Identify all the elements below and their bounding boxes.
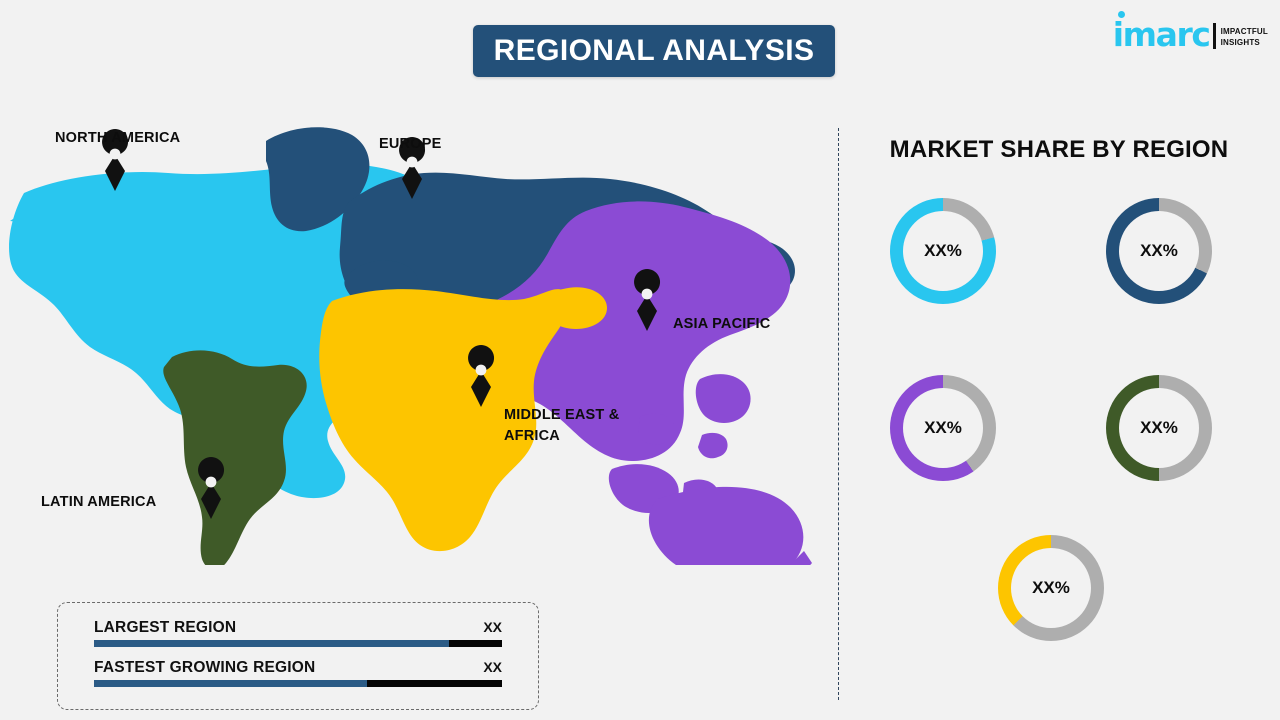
map-label-middle-east-africa: MIDDLE EAST & AFRICA [504, 405, 619, 447]
donut-chart-europe[interactable]: XX% [1106, 198, 1212, 304]
donut-hole-asia-pacific: XX% [903, 388, 983, 468]
legend-value-fastest-growing-region: XX [483, 659, 502, 675]
page-title: REGIONAL ANALYSIS [494, 34, 815, 68]
legend-box: LARGEST REGION XX FASTEST GROWING REGION… [57, 602, 539, 710]
map-label-asia-pacific: ASIA PACIFIC [673, 314, 770, 335]
donut-value-north-america: XX% [924, 241, 962, 261]
donut-hole-europe: XX% [1119, 211, 1199, 291]
donut-chart-latin-america[interactable]: XX% [1106, 375, 1212, 481]
donut-value-middle-east-africa: XX% [1032, 578, 1070, 598]
donut-value-europe: XX% [1140, 241, 1178, 261]
legend-bar-fill-largest-region [94, 640, 449, 647]
legend-value-largest-region: XX [483, 619, 502, 635]
legend-row-largest-region: LARGEST REGION XX [94, 619, 502, 647]
map-label-north-america: NORTH AMERICA [55, 128, 180, 149]
donut-value-asia-pacific: XX% [924, 418, 962, 438]
donut-hole-middle-east-africa: XX% [1011, 548, 1091, 628]
donut-chart-asia-pacific[interactable]: XX% [890, 375, 996, 481]
infographic-root: REGIONAL ANALYSIS imarc IMPACTFUL INSIGH… [0, 0, 1280, 720]
logo-tagline-line1: IMPACTFUL [1221, 26, 1268, 37]
donut-chart-north-america[interactable]: XX% [890, 198, 996, 304]
legend-row-fastest-growing-region: FASTEST GROWING REGION XX [94, 659, 502, 687]
legend-label-fastest-growing-region: FASTEST GROWING REGION [94, 659, 315, 677]
legend-bar-fill-fastest-growing-region [94, 680, 367, 687]
logo-tagline-line2: INSIGHTS [1221, 37, 1268, 48]
logo-divider-bar [1213, 23, 1216, 49]
imarc-logo: imarc IMPACTFUL INSIGHTS [1113, 12, 1268, 52]
legend-label-largest-region: LARGEST REGION [94, 619, 236, 637]
world-map-area: NORTH AMERICA EUROPE ASIA PACIFIC MIDDLE… [0, 95, 820, 595]
map-label-latin-america: LATIN AMERICA [41, 492, 156, 513]
donut-value-latin-america: XX% [1140, 418, 1178, 438]
donut-hole-latin-america: XX% [1119, 388, 1199, 468]
logo-dot [1118, 11, 1125, 18]
logo-wordmark: imarc [1113, 18, 1210, 52]
map-label-europe: EUROPE [379, 134, 441, 155]
page-title-banner: REGIONAL ANALYSIS [473, 25, 835, 77]
donut-hole-north-america: XX% [903, 211, 983, 291]
legend-bar-fastest-growing-region [94, 680, 502, 687]
logo-tagline: IMPACTFUL INSIGHTS [1221, 26, 1268, 48]
market-share-title: MARKET SHARE BY REGION [838, 136, 1280, 164]
legend-bar-largest-region [94, 640, 502, 647]
logo-wordmark-text: imarc [1113, 15, 1210, 54]
market-share-panel: MARKET SHARE BY REGION XX% XX% XX% XX% X… [838, 120, 1280, 710]
donut-chart-middle-east-africa[interactable]: XX% [998, 535, 1104, 641]
